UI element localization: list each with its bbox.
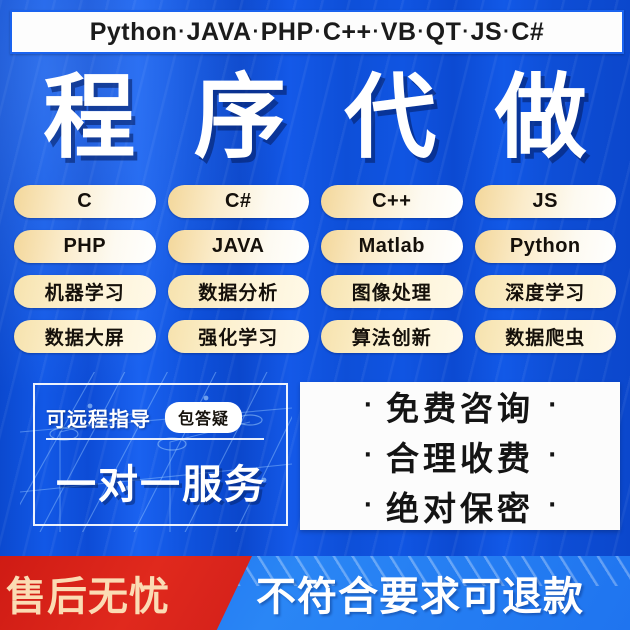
bullet-dot-icon: · — [364, 395, 372, 417]
language-separator: · — [177, 21, 186, 43]
skill-pill[interactable]: 强化学习 — [168, 320, 310, 353]
language-item: C# — [511, 18, 544, 46]
panel-divider — [46, 438, 264, 440]
bullet-dot-icon: · — [364, 495, 372, 517]
promise-row: ·免费咨询· — [364, 382, 557, 430]
skill-pill[interactable]: Matlab — [321, 230, 463, 263]
skill-pill[interactable]: 机器学习 — [14, 275, 156, 308]
skill-pill[interactable]: C — [14, 185, 156, 218]
skill-pill[interactable]: 数据爬虫 — [475, 320, 617, 353]
skill-pill[interactable]: 算法创新 — [321, 320, 463, 353]
title-char-4: 做 — [495, 72, 587, 164]
bottom-banner: 售后无忧 不符合要求可退款 — [0, 556, 630, 630]
skill-pill[interactable]: PHP — [14, 230, 156, 263]
language-separator: · — [372, 21, 381, 43]
skill-pill[interactable]: C++ — [321, 185, 463, 218]
skill-pill[interactable]: 数据大屏 — [14, 320, 156, 353]
poster-canvas: Python·JAVA·PHP·C++·VB·QT·JS·C# 程 序 代 做 … — [0, 0, 630, 630]
promises-panel: ·免费咨询··合理收费··绝对保密· — [300, 382, 620, 530]
language-item: JAVA — [187, 18, 252, 46]
promise-label: 绝对保密 — [386, 482, 534, 530]
skill-pill[interactable]: JS — [475, 185, 617, 218]
bullet-dot-icon: · — [548, 445, 556, 467]
language-item: JS — [471, 18, 503, 46]
promise-label: 合理收费 — [386, 432, 534, 480]
language-separator: · — [314, 21, 323, 43]
after-sales-badge: 售后无忧 — [0, 556, 252, 630]
skill-pill[interactable]: Python — [475, 230, 617, 263]
page-title: 程 序 代 做 — [0, 60, 630, 175]
remote-guidance-row: 可远程指导 包答疑 — [46, 402, 242, 433]
language-separator: · — [461, 21, 470, 43]
language-item: QT — [426, 18, 462, 46]
bullet-dot-icon: · — [548, 495, 556, 517]
language-separator: · — [252, 21, 261, 43]
language-separator: · — [417, 21, 426, 43]
language-item: C++ — [323, 18, 372, 46]
middle-section: 可远程指导 包答疑 一对一服务 ·免费咨询··合理收费··绝对保密· — [0, 372, 630, 540]
title-char-3: 代 — [344, 72, 436, 164]
language-item: VB — [381, 18, 417, 46]
title-char-1: 程 — [43, 72, 135, 164]
promise-row: ·绝对保密· — [364, 482, 557, 530]
bullet-dot-icon: · — [364, 445, 372, 467]
promise-label: 免费咨询 — [386, 382, 534, 430]
skill-pill[interactable]: JAVA — [168, 230, 310, 263]
language-item: PHP — [261, 18, 314, 46]
after-sales-label: 售后无忧 — [0, 564, 170, 622]
service-panel: 可远程指导 包答疑 一对一服务 — [20, 372, 292, 532]
skill-pill[interactable]: 深度学习 — [475, 275, 617, 308]
language-separator: · — [502, 21, 511, 43]
remote-guidance-label: 可远程指导 — [46, 403, 151, 432]
bullet-dot-icon: · — [548, 395, 556, 417]
refund-banner: 不符合要求可退款 — [252, 556, 630, 630]
skill-pill[interactable]: 数据分析 — [168, 275, 310, 308]
one-on-one-headline: 一对一服务 — [38, 452, 284, 510]
title-char-2: 序 — [194, 72, 286, 164]
qa-badge: 包答疑 — [165, 402, 242, 433]
refund-label: 不符合要求可退款 — [252, 564, 584, 622]
skill-pill[interactable]: C# — [168, 185, 310, 218]
language-banner: Python·JAVA·PHP·C++·VB·QT·JS·C# — [10, 10, 624, 54]
language-item: Python — [90, 18, 178, 46]
skill-pill-grid: CC#C++JSPHPJAVAMatlabPython机器学习数据分析图像处理深… — [14, 185, 616, 353]
language-list: Python·JAVA·PHP·C++·VB·QT·JS·C# — [90, 18, 545, 47]
skill-pill[interactable]: 图像处理 — [321, 275, 463, 308]
promise-row: ·合理收费· — [364, 432, 557, 480]
